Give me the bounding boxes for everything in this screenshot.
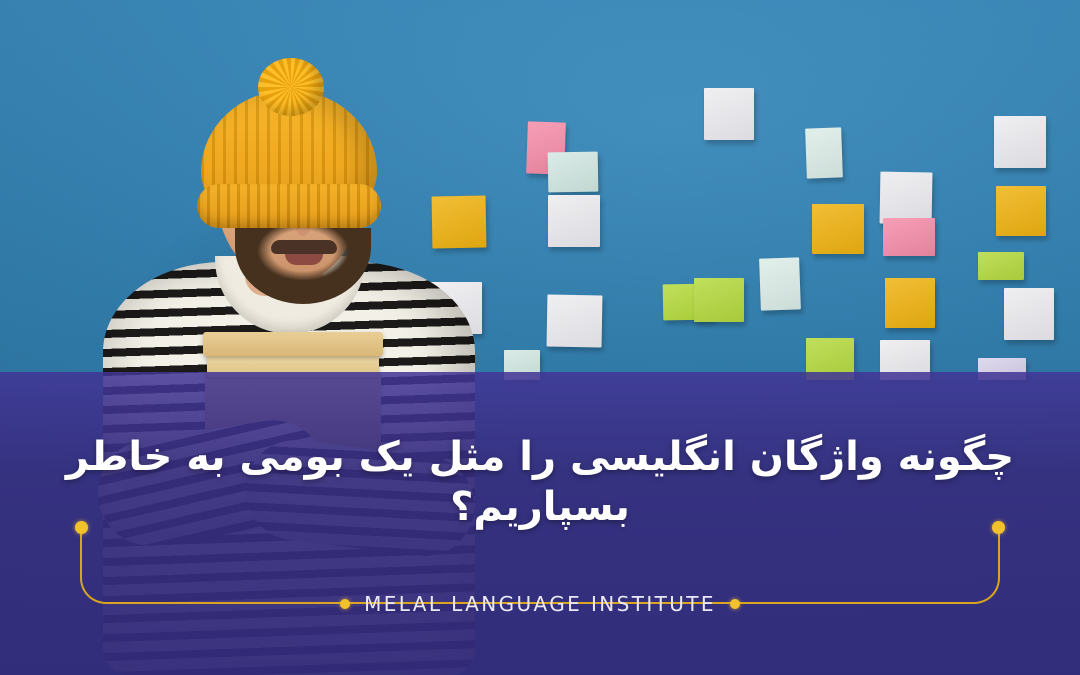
beanie-brim <box>197 184 381 228</box>
banner-stage: چگونه واژگان انگلیسی را مثل یک بومی به خ… <box>0 0 1080 675</box>
sticky-note <box>805 127 843 178</box>
sticky-note <box>994 116 1046 168</box>
sticky-note <box>704 88 754 140</box>
sticky-note <box>812 204 864 254</box>
sticky-note <box>547 295 603 348</box>
caption-row: MELAL LANGUAGE INSTITUTE <box>0 592 1080 616</box>
sticky-note <box>885 278 935 328</box>
sticky-note <box>996 186 1046 236</box>
sticky-note <box>1004 288 1054 340</box>
caption-dot-right <box>340 599 350 609</box>
sticky-note <box>694 278 744 322</box>
sticky-note <box>548 195 600 247</box>
beanie-pompom <box>258 58 324 116</box>
caption-dot-left <box>730 599 740 609</box>
frame-dot-right <box>992 521 1005 534</box>
sticky-note <box>880 172 933 225</box>
frame-dot-left <box>75 521 88 534</box>
brand-caption: MELAL LANGUAGE INSTITUTE <box>350 592 730 616</box>
notebook-top <box>203 332 383 356</box>
moustache <box>271 240 337 254</box>
page-title: چگونه واژگان انگلیسی را مثل یک بومی به خ… <box>0 432 1080 532</box>
head <box>201 92 377 282</box>
sticky-note <box>883 218 935 256</box>
sticky-note <box>978 252 1024 280</box>
mouth <box>285 254 323 265</box>
sticky-note <box>759 257 801 310</box>
sticky-note <box>548 152 599 193</box>
